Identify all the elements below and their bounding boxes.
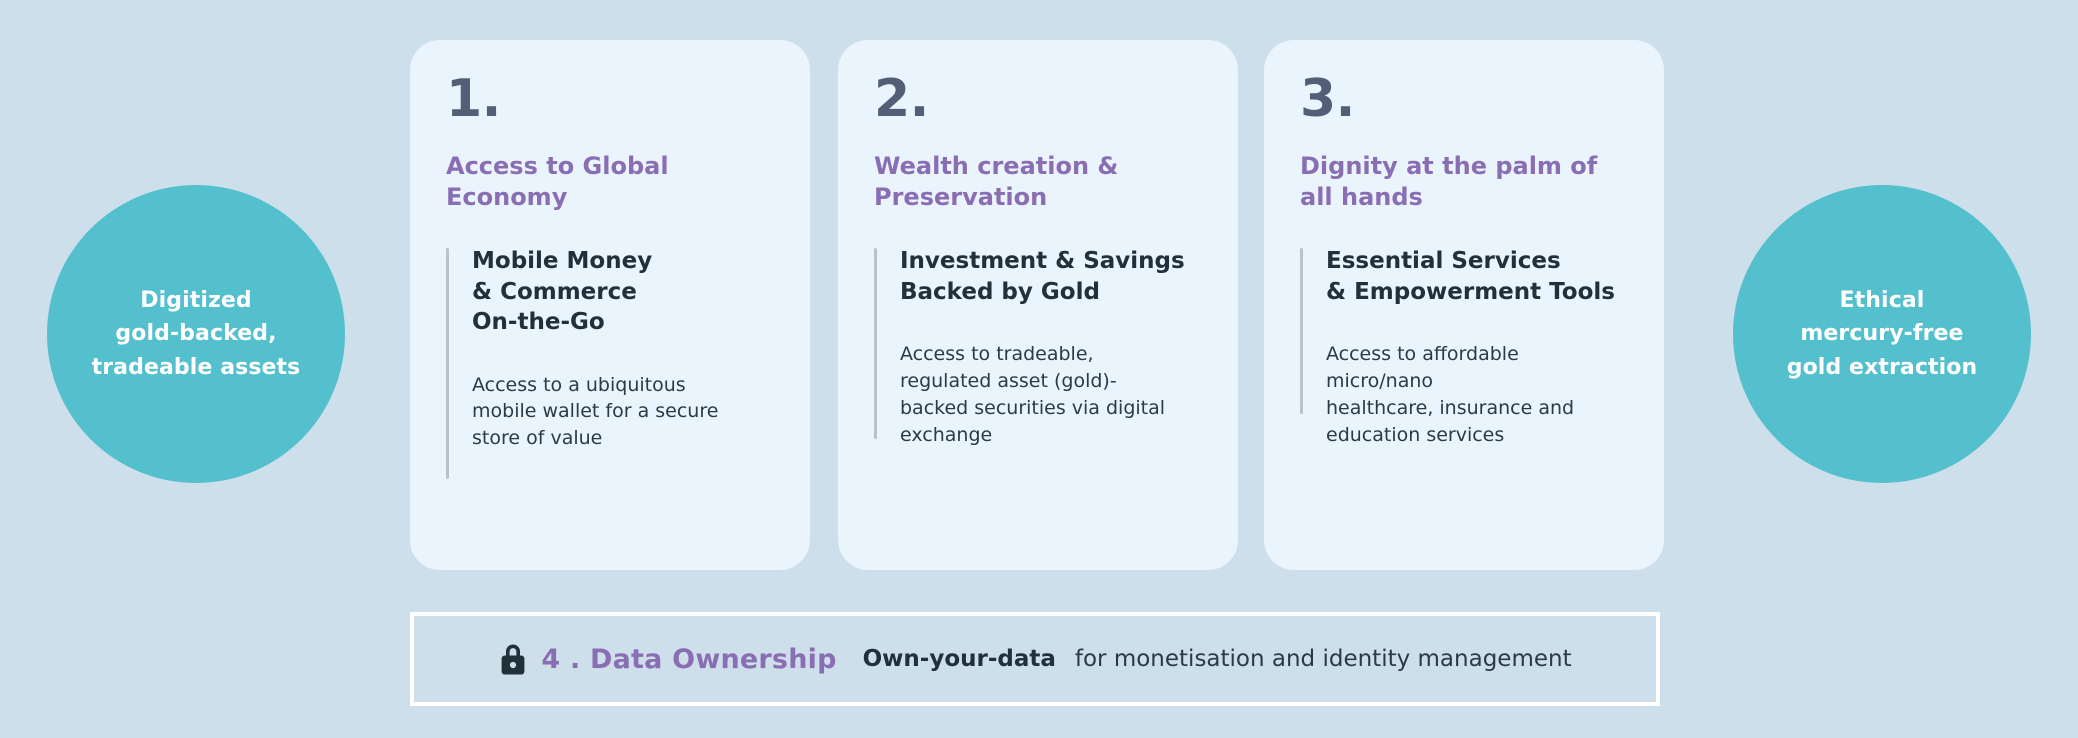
pillar-2-body-heading: Investment & Savings Backed by Gold xyxy=(900,246,1202,307)
pillar-2-title: Wealth creation & Preservation xyxy=(874,151,1202,212)
pillar-3-body: Essential Services & Empowerment Tools A… xyxy=(1300,246,1628,416)
data-ownership-banner: 4 . Data Ownership Own-your-data for mon… xyxy=(410,612,1660,706)
pillar-3-body-text: Access to affordable micro/nano healthca… xyxy=(1326,341,1628,449)
banner-content: 4 . Data Ownership Own-your-data for mon… xyxy=(498,642,1571,676)
pillar-1-body-heading: Mobile Money & Commerce On-the-Go xyxy=(472,246,774,337)
pillar-2-body: Investment & Savings Backed by Gold Acce… xyxy=(874,246,1202,441)
circle-digitized-assets: Digitized gold-backed, tradeable assets xyxy=(47,185,345,483)
pillar-1-body-text: Access to a ubiquitous mobile wallet for… xyxy=(472,372,774,453)
banner-strong-text: Own-your-data xyxy=(863,646,1056,672)
pillar-3-number: 3. xyxy=(1300,73,1628,125)
pillar-card-3: 3. Dignity at the palm of all hands Esse… xyxy=(1264,40,1664,570)
pillar-3-title: Dignity at the palm of all hands xyxy=(1300,151,1628,212)
infographic-canvas: Digitized gold-backed, tradeable assets … xyxy=(0,0,2078,738)
lock-icon xyxy=(498,642,528,676)
pillar-2-number: 2. xyxy=(874,73,1202,125)
pillar-card-1: 1. Access to Global Economy Mobile Money… xyxy=(410,40,810,570)
circle-ethical-extraction: Ethical mercury-free gold extraction xyxy=(1733,185,2031,483)
pillar-1-body: Mobile Money & Commerce On-the-Go Access… xyxy=(446,246,774,481)
pillar-1-number: 1. xyxy=(446,73,774,125)
pillar-1-title: Access to Global Economy xyxy=(446,151,774,212)
pillar-card-2: 2. Wealth creation & Preservation Invest… xyxy=(838,40,1238,570)
pillar-3-body-heading: Essential Services & Empowerment Tools xyxy=(1326,246,1628,307)
banner-rest-text: for monetisation and identity management xyxy=(1075,646,1572,672)
circle-right-label: Ethical mercury-free gold extraction xyxy=(1787,284,1978,384)
circle-left-label: Digitized gold-backed, tradeable assets xyxy=(92,284,301,384)
pillar-2-body-text: Access to tradeable, regulated asset (go… xyxy=(900,341,1202,449)
banner-number-label: 4 . Data Ownership xyxy=(541,644,836,675)
